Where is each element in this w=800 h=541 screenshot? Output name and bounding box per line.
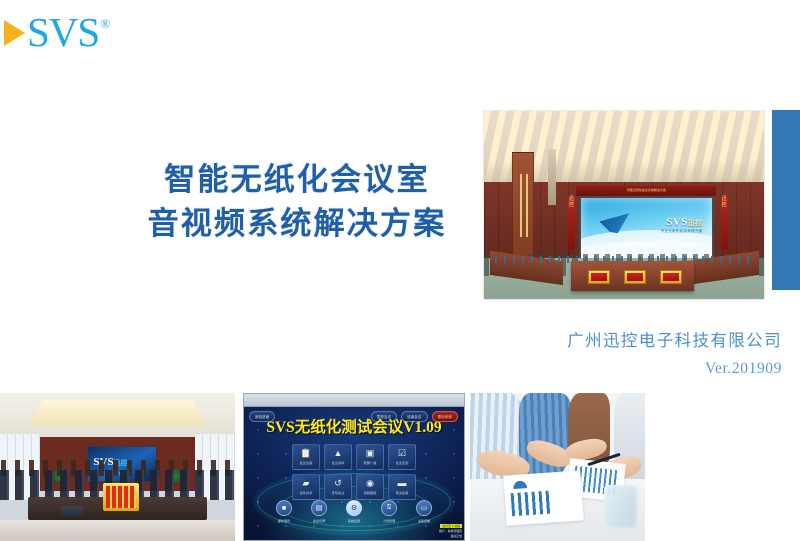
dock-item-system-settings[interactable]: ⚙ 系统设置 [342,500,366,523]
document-upload-icon: ▲ [334,449,343,458]
version-label: Ver.201909 [567,360,782,378]
water-glass [604,485,638,529]
tile-meeting-agenda[interactable]: 📋 会议议程 [292,444,320,470]
folder-icon: ▰ [303,479,310,488]
briefcase-icon: ▬ [398,479,407,488]
laptop [61,506,83,517]
refresh-icon: ↺ [334,479,342,488]
company-name: 广州迅控电子科技有限公司 [567,330,782,352]
dock-label: 会议记录 [307,518,331,523]
screen-share-icon: ▣ [366,449,375,458]
tile-label: 视频跟踪 [364,490,377,495]
tile-label: 手写批注 [332,490,345,495]
status-line-3: 连接正常 [450,534,462,538]
bottom-dock: ■ 即时通讯 ▤ 会议记录 ⚙ 系统设置 ⍂ 人员管理 ▭ 设备控制 [272,500,436,523]
page-title: 智能无纸化会议室 音视频系统解决方案 [112,158,482,246]
meeting-room-photo: SVS迅控 专业无纸化会议系统方案 [0,393,235,541]
vertical-banner-left: 迅控 [568,197,575,250]
svs-logo: SVS ® [8,12,110,54]
dock-item-meeting-record[interactable]: ▤ 会议记录 [307,500,331,523]
nameplate [624,270,646,284]
team-documents-photo [470,393,645,541]
clipboard-icon: 📋 [300,449,311,458]
bottom-image-strip: SVS迅控 专业无纸化会议系统方案 返回桌面 暂停会议 结束会议 退出系统 [0,393,800,541]
registered-trademark-icon: ® [100,16,110,32]
play-triangle-icon [4,20,25,46]
tile-screen-share[interactable]: ▣ 同屏广播 [356,444,384,470]
title-line-2: 音视频系统解决方案 [112,202,482,246]
status-line-2: 用户：系统管理员 [439,529,462,533]
tile-label: 文件共享 [300,490,313,495]
paperless-software-ui: 返回桌面 暂停会议 结束会议 退出系统 SVS无纸化测试会议V1.09 📋 会议… [243,393,465,541]
dock-item-chat[interactable]: ■ 即时通讯 [272,500,296,523]
tile-handwriting-annotation[interactable]: ↺ 手写批注 [324,474,352,500]
wall-pillar [548,149,556,205]
company-block: 广州迅控电子科技有限公司 Ver.201909 [567,330,782,378]
dock-item-device-control[interactable]: ▭ 设备控制 [412,500,436,523]
status-line-1: 会议室 1 在线 [440,524,462,528]
accent-bar [772,110,800,290]
pie-chart [511,479,528,489]
screen-brand-latin: SVS [666,216,687,228]
tile-meeting-materials[interactable]: ▲ 会议资料 [324,444,352,470]
tile-label: 会议资料 [332,460,345,465]
title-line-1: 智能无纸化会议室 [112,158,482,202]
tile-label: 表决投票 [396,490,409,495]
window-titlebar [244,394,464,407]
presentation-slide: SVS ® 智能无纸化会议室 音视频系统解决方案 智能无纸化会议系统解决方案 迅… [0,0,800,541]
tile-label: 会议议程 [300,460,313,465]
led-screen: SVS迅控 专业无纸化会议系统方案 [579,196,713,260]
nameplate [660,270,682,284]
dock-label: 系统设置 [342,518,366,523]
tile-meeting-signin[interactable]: ☑ 会议签到 [388,444,416,470]
app-title: SVS无纸化测试会议V1.09 [244,415,464,437]
tile-label: 会议签到 [396,460,409,465]
dock-label: 设备控制 [412,518,436,523]
bar-chart [511,491,553,517]
vertical-banner-right: 迅控 [721,197,728,250]
door [512,152,534,269]
logo-wordmark: SVS [27,12,99,53]
network-icon: ⍂ [381,500,397,516]
nameplate [588,270,610,284]
conference-room-render-image: 智能无纸化会议系统解决方案 迅控 迅控 SVS迅控 专业无纸化会议系统方案 [483,110,765,300]
screen-subtitle: 专业无纸化会议系统方案 [661,229,703,234]
dock-item-personnel[interactable]: ⍂ 人员管理 [377,500,401,523]
tile-voting[interactable]: ▬ 表决投票 [388,474,416,500]
gear-icon: ⚙ [346,500,362,516]
note-icon: ▤ [311,500,327,516]
camera-icon: ◉ [366,479,374,488]
screen-brand-cn: 迅控 [688,219,703,227]
vote-form-icon: ☑ [398,449,406,458]
feature-tile-grid: 📋 会议议程 ▲ 会议资料 ▣ 同屏广播 ☑ 会议签到 ▰ 文件共享 [292,444,416,500]
status-bar: 会议室 1 在线 用户：系统管理员 连接正常 [439,524,462,538]
tile-video-tracking[interactable]: ◉ 视频跟踪 [356,474,384,500]
dock-label: 即时通讯 [272,518,296,523]
screen-brand: SVS迅控 [666,216,702,228]
floor [0,520,235,541]
tile-file-share[interactable]: ▰ 文件共享 [292,474,320,500]
monitor-icon: ▭ [416,500,432,516]
dock-label: 人员管理 [377,518,401,523]
nameplate [103,483,139,511]
chart-document [503,470,583,526]
hero-banner-text: 智能无纸化会议系统解决方案 [576,186,716,195]
chat-icon: ■ [276,500,292,516]
tile-label: 同屏广播 [364,460,377,465]
